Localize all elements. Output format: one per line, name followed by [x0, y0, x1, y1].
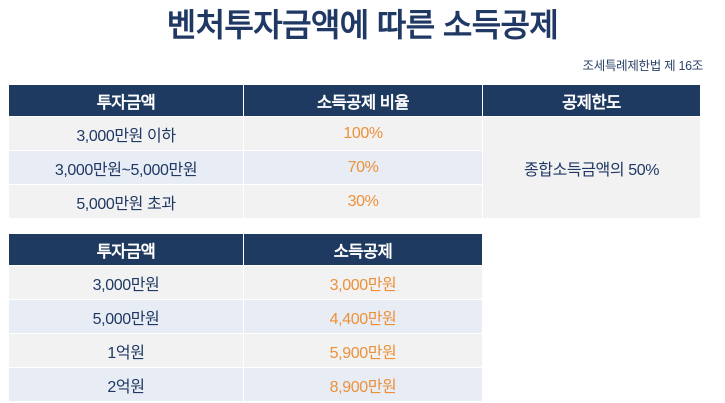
- deduction-rate-table: 투자금액 소득공제 비율 공제한도 3,000만원 이하 100% 종합소득금액…: [8, 84, 701, 219]
- cell-deduction-limit: 종합소득금액의 50%: [483, 117, 701, 219]
- column-header-deduction: 소득공제: [244, 234, 483, 266]
- cell-deduction-amount: 5,900만원: [244, 334, 483, 368]
- cell-investment-amount: 5,000만원: [9, 300, 244, 334]
- cell-investment-amount: 3,000만원: [9, 266, 244, 300]
- column-header-investment-amount: 투자금액: [9, 234, 244, 266]
- table-row: 5,000만원 4,400만원: [9, 300, 483, 334]
- cell-investment-amount: 1억원: [9, 334, 244, 368]
- cell-investment-amount: 3,000만원~5,000만원: [9, 151, 244, 185]
- table-row: 2억원 8,900만원: [9, 368, 483, 402]
- column-header-investment-amount: 투자금액: [9, 85, 244, 117]
- cell-investment-amount: 5,000만원 초과: [9, 185, 244, 219]
- cell-deduction-rate: 30%: [244, 185, 483, 219]
- cell-investment-amount: 3,000만원 이하: [9, 117, 244, 151]
- cell-investment-amount: 2억원: [9, 368, 244, 402]
- cell-deduction-rate: 70%: [244, 151, 483, 185]
- table-row: 3,000만원 이하 100% 종합소득금액의 50%: [9, 117, 701, 151]
- deduction-examples-table: 투자금액 소득공제 3,000만원 3,000만원 5,000만원 4,400만…: [8, 233, 483, 402]
- cell-deduction-rate: 100%: [244, 117, 483, 151]
- column-header-deduction-limit: 공제한도: [483, 85, 701, 117]
- legal-reference-note: 조세특례제한법 제 16조: [583, 58, 703, 74]
- table-header-row: 투자금액 소득공제: [9, 234, 483, 266]
- cell-deduction-amount: 4,400만원: [244, 300, 483, 334]
- column-header-deduction-rate: 소득공제 비율: [244, 85, 483, 117]
- cell-deduction-amount: 8,900만원: [244, 368, 483, 402]
- table-row: 1억원 5,900만원: [9, 334, 483, 368]
- page-title: 벤처투자금액에 따른 소득공제: [0, 4, 725, 46]
- table-row: 3,000만원 3,000만원: [9, 266, 483, 300]
- cell-deduction-amount: 3,000만원: [244, 266, 483, 300]
- table-header-row: 투자금액 소득공제 비율 공제한도: [9, 85, 701, 117]
